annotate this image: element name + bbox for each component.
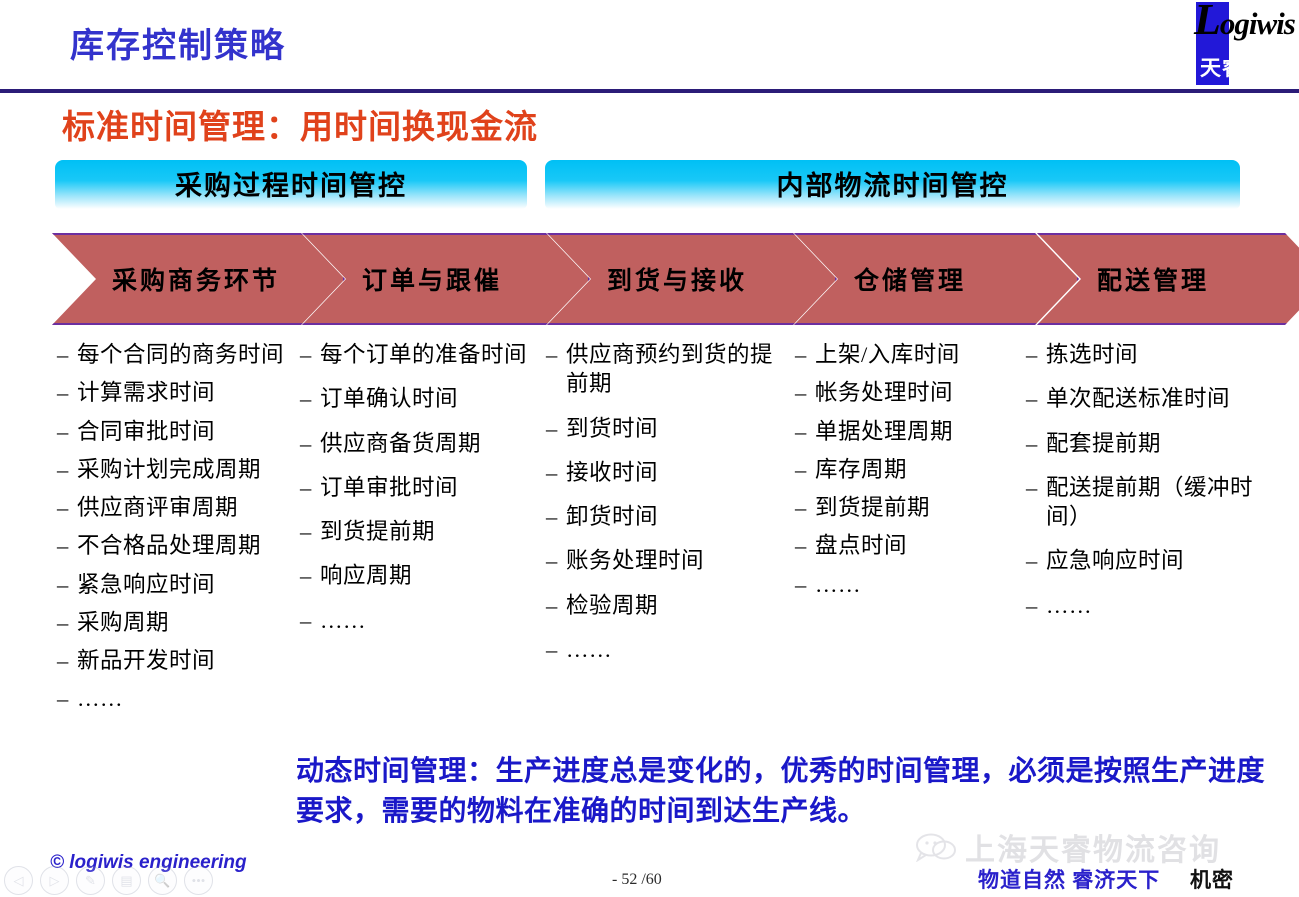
bullet-dash-icon: – [57,570,77,599]
bullet-dash-icon: – [795,378,815,407]
bullet-item: –盘点时间 [795,531,1035,560]
bullet-dash-icon: – [57,455,77,484]
bullet-text: 到货提前期 [815,493,1035,522]
watermark-text: 上海天睿物流咨询 [965,825,1221,869]
bullet-dash-icon: – [546,546,566,575]
bullet-item: –帐务处理时间 [795,378,1035,407]
bullet-dash-icon: – [300,340,320,369]
bullet-dash-icon: – [546,414,566,443]
bullet-text: 拣选时间 [1046,340,1276,369]
bullet-text: 供应商预约到货的提前期 [566,340,786,399]
bullet-dash-icon: – [546,340,566,369]
bullet-dash-icon: – [795,340,815,369]
bullet-text: 订单审批时间 [320,473,540,502]
bullet-item: –每个合同的商务时间 [57,340,297,369]
bullet-text: 每个合同的商务时间 [77,340,297,369]
bullet-item: –库存周期 [795,455,1035,484]
bullet-dash-icon: – [795,531,815,560]
bullet-text: 不合格品处理周期 [77,531,297,560]
section-subtitle: 标准时间管理：用时间换现金流 [62,100,538,148]
bullet-item: –计算需求时间 [57,378,297,407]
confidential-label: 机密 [1190,864,1234,894]
bullet-item: –配套提前期 [1026,429,1276,458]
bullet-text: 合同审批时间 [77,417,297,446]
slideshow-nav-bar[interactable]: ◁▷✎▤🔍••• [4,866,213,895]
page-number: - 52 /60 [612,871,662,889]
bullet-column-4: –上架/入库时间–帐务处理时间–单据处理周期–库存周期–到货提前期–盘点时间–…… [795,340,1035,608]
dynamic-time-management-note: 动态时间管理：生产进度总是变化的，优秀的时间管理，必须是按照生产进度要求，需要的… [296,752,1271,832]
process-chevron-row: 采购商务环节 订单与跟催 到货与接收 仓储管理 配送管理 [52,233,1284,325]
bullet-dash-icon: – [57,531,77,560]
bullet-item: –…… [795,570,1035,599]
bullet-text: 卸货时间 [566,502,786,531]
bullet-dash-icon: – [57,340,77,369]
bullet-column-5: –拣选时间–单次配送标准时间–配套提前期–配送提前期（缓冲时间）–应急响应时间–… [1026,340,1276,635]
bullet-dash-icon: – [795,417,815,446]
bullet-dash-icon: – [795,455,815,484]
bullet-text: …… [566,635,786,664]
bullet-text: 供应商备货周期 [320,429,540,458]
slide-menu-icon[interactable]: ▤ [112,866,141,895]
bullet-text: 响应周期 [320,561,540,590]
logo-word-rest: ogiwis [1220,6,1295,41]
bullet-dash-icon: – [300,384,320,413]
bullet-dash-icon: – [546,502,566,531]
bullet-column-2: –每个订单的准备时间–订单确认时间–供应商备货周期–订单审批时间–到货提前期–响… [300,340,540,650]
bullet-dash-icon: – [300,606,320,635]
next-slide-icon[interactable]: ▷ [40,866,69,895]
logo-wordmark: Logiwis [1194,6,1295,42]
bullet-item: –…… [1026,591,1276,620]
bullet-dash-icon: – [1026,591,1046,620]
bullet-text: …… [77,684,297,713]
bullet-text: 上架/入库时间 [815,340,1035,369]
bullet-text: 配套提前期 [1046,429,1276,458]
bullet-text: 单据处理周期 [815,417,1035,446]
bullet-text: 计算需求时间 [77,378,297,407]
bullet-text: 到货时间 [566,414,786,443]
bullet-dash-icon: – [57,493,77,522]
bullet-item: –接收时间 [546,458,786,487]
bullet-item: –订单审批时间 [300,473,540,502]
bullet-item: –配送提前期（缓冲时间） [1026,473,1276,532]
bullet-item: –供应商评审周期 [57,493,297,522]
bullet-item: –采购周期 [57,608,297,637]
bullet-item: –到货提前期 [795,493,1035,522]
wechat-bubble-icon [915,832,957,862]
slide-canvas: 库存控制策略 Logiwis 天睿咨询 标准时间管理：用时间换现金流 采购过程时… [0,0,1299,897]
bullet-dash-icon: – [300,473,320,502]
bullet-dash-icon: – [546,458,566,487]
bullet-text: 帐务处理时间 [815,378,1035,407]
bullet-item: –新品开发时间 [57,646,297,675]
logo-chinese-name: 天睿咨询 [1200,52,1288,82]
bullet-item: –…… [57,684,297,713]
bullet-text: 盘点时间 [815,531,1035,560]
bullet-dash-icon: – [795,493,815,522]
zoom-tool-icon[interactable]: 🔍 [148,866,177,895]
bullet-text: …… [1046,591,1276,620]
bullet-dash-icon: – [57,417,77,446]
bullet-dash-icon: – [1026,340,1046,369]
bullet-text: 到货提前期 [320,517,540,546]
bullet-dash-icon: – [1026,429,1046,458]
bullet-item: –到货提前期 [300,517,540,546]
bullet-item: –响应周期 [300,561,540,590]
bullet-item: –订单确认时间 [300,384,540,413]
bullet-dash-icon: – [57,684,77,713]
bullet-item: –每个订单的准备时间 [300,340,540,369]
previous-slide-icon[interactable]: ◁ [4,866,33,895]
bullet-text: …… [815,570,1035,599]
bullet-text: 单次配送标准时间 [1046,384,1276,413]
bullet-dash-icon: – [300,429,320,458]
bullet-item: –卸货时间 [546,502,786,531]
bullet-column-1: –每个合同的商务时间–计算需求时间–合同审批时间–采购计划完成周期–供应商评审周… [57,340,297,723]
bullet-text: 接收时间 [566,458,786,487]
bullet-text: 检验周期 [566,591,786,620]
bullet-text: …… [320,606,540,635]
banner-procurement-time-control: 采购过程时间管控 [55,160,527,209]
bullet-item: –到货时间 [546,414,786,443]
chevron-step-1: 采购商务环节 [52,233,345,325]
bullet-item: –单据处理周期 [795,417,1035,446]
more-options-icon[interactable]: ••• [184,866,213,895]
bullet-text: 库存周期 [815,455,1035,484]
bullet-item: –…… [546,635,786,664]
bullet-item: –拣选时间 [1026,340,1276,369]
bullet-item: –供应商备货周期 [300,429,540,458]
bullet-item: –应急响应时间 [1026,546,1276,575]
bullet-dash-icon: – [546,591,566,620]
bullet-dash-icon: – [795,570,815,599]
bullet-item: –账务处理时间 [546,546,786,575]
bullet-dash-icon: – [1026,473,1046,502]
bullet-item: –检验周期 [546,591,786,620]
bullet-item: –采购计划完成周期 [57,455,297,484]
bullet-text: 订单确认时间 [320,384,540,413]
chevron-step-2: 订单与跟催 [302,233,590,325]
bullet-item: –单次配送标准时间 [1026,384,1276,413]
bullet-dash-icon: – [1026,546,1046,575]
header-divider [0,89,1299,93]
bullet-dash-icon: – [57,608,77,637]
bullet-dash-icon: – [57,378,77,407]
bullet-dash-icon: – [300,517,320,546]
bullet-column-3: –供应商预约到货的提前期–到货时间–接收时间–卸货时间–账务处理时间–检验周期–… [546,340,786,679]
bullet-item: –上架/入库时间 [795,340,1035,369]
bullet-text: 供应商评审周期 [77,493,297,522]
bullet-item: –合同审批时间 [57,417,297,446]
bullet-item: –不合格品处理周期 [57,531,297,560]
bullet-text: 应急响应时间 [1046,546,1276,575]
bullet-dash-icon: – [546,635,566,664]
company-tagline: 物道自然 睿济天下 [978,864,1160,894]
bullet-text: 采购周期 [77,608,297,637]
bullet-dash-icon: – [57,646,77,675]
bullet-text: 新品开发时间 [77,646,297,675]
bullet-text: 每个订单的准备时间 [320,340,540,369]
bullet-item: –紧急响应时间 [57,570,297,599]
bullet-dash-icon: – [1026,384,1046,413]
bullet-text: 配送提前期（缓冲时间） [1046,473,1276,532]
bullet-text: 采购计划完成周期 [77,455,297,484]
bullet-item: –供应商预约到货的提前期 [546,340,786,399]
bullet-text: 紧急响应时间 [77,570,297,599]
logo-initial: L [1194,0,1220,44]
page-title: 库存控制策略 [70,18,286,67]
chevron-step-3: 到货与接收 [547,233,837,325]
pen-tool-icon[interactable]: ✎ [76,866,105,895]
bullet-item: –…… [300,606,540,635]
banner-internal-logistics-time-control: 内部物流时间管控 [545,160,1240,209]
bullet-text: 账务处理时间 [566,546,786,575]
bullet-dash-icon: – [300,561,320,590]
